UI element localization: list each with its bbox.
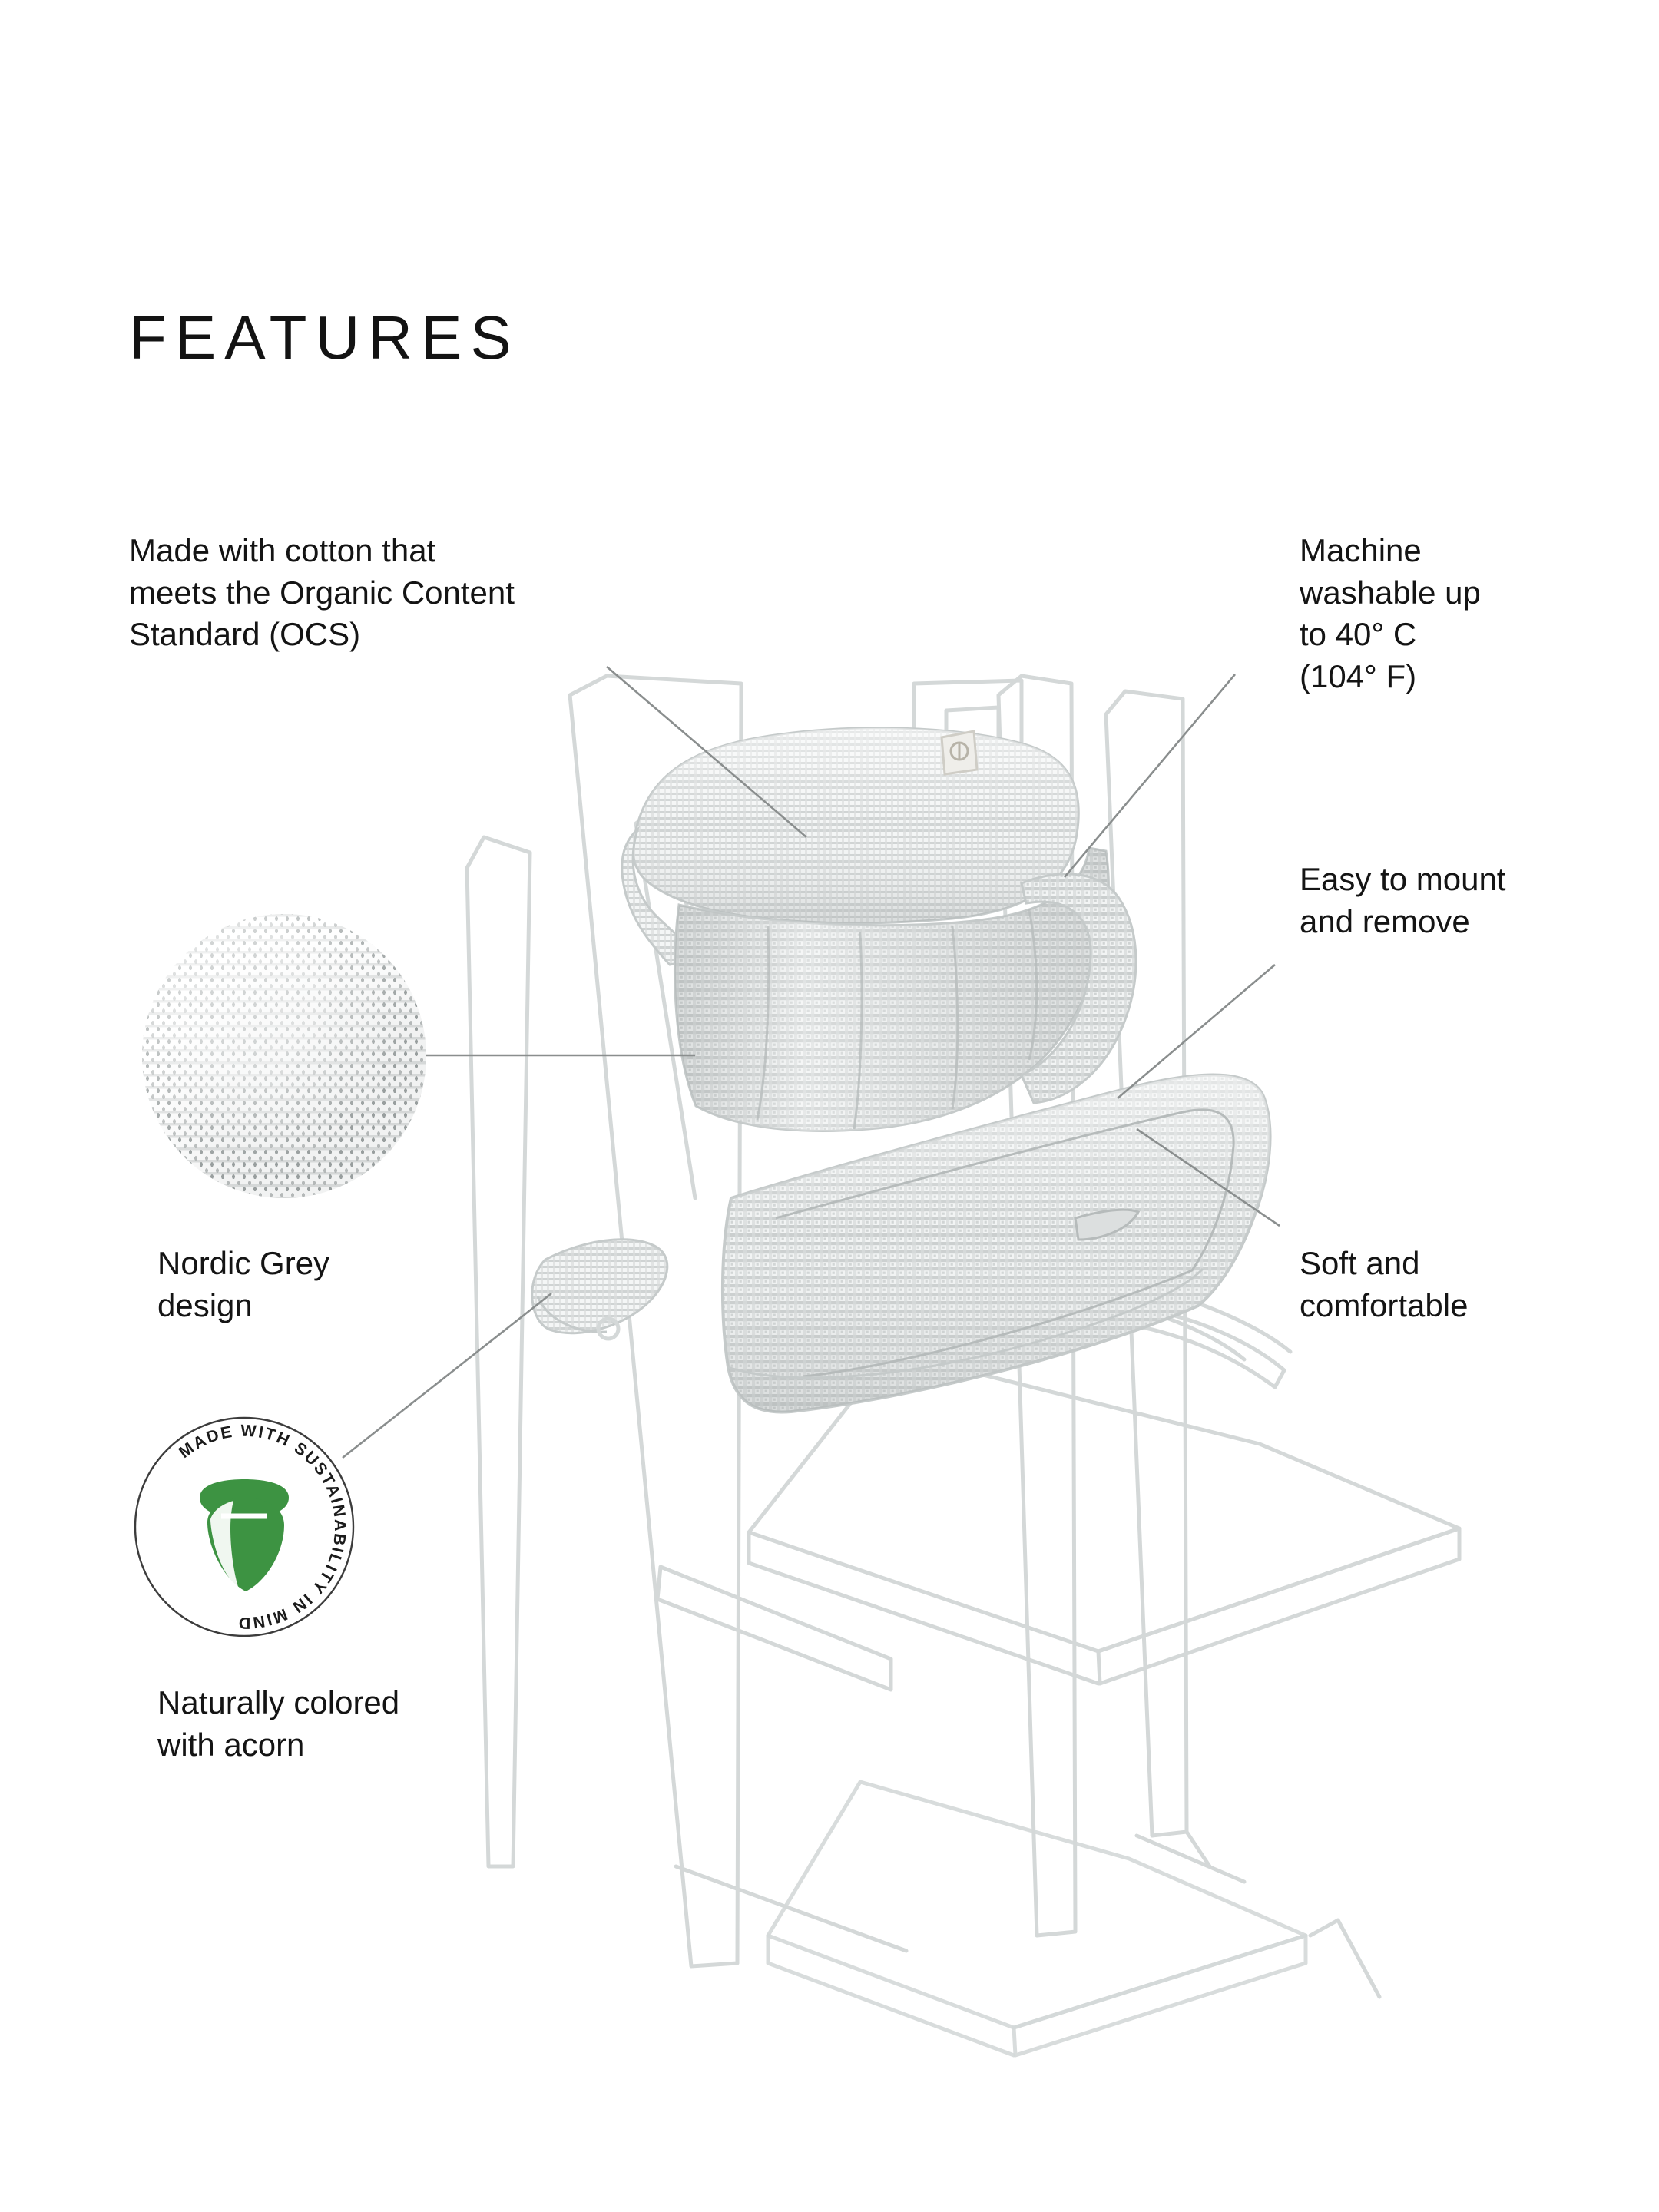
callout-organic-content-standard: Made with cotton that meets the Organic … bbox=[129, 530, 667, 656]
callout-line: and remove bbox=[1300, 901, 1607, 943]
leader-ocs bbox=[607, 667, 806, 837]
cushion-backrest bbox=[622, 728, 1079, 965]
callout-soft-and-comfortable: Soft and comfortable bbox=[1300, 1243, 1607, 1326]
callout-line: with acorn bbox=[157, 1724, 518, 1767]
leader-mount bbox=[1118, 965, 1275, 1098]
callout-line: to 40° C bbox=[1300, 614, 1607, 656]
cushion-seat-pad bbox=[723, 1075, 1270, 1412]
callout-naturally-colored-with-acorn: Naturally colored with acorn bbox=[157, 1682, 518, 1766]
fabric-sheen-overlay bbox=[142, 914, 426, 1198]
callout-line: (104° F) bbox=[1300, 656, 1607, 698]
sustainability-badge: MADE WITH SUSTAINABILITY IN MIND bbox=[129, 1412, 359, 1642]
callout-line: Machine bbox=[1300, 530, 1607, 572]
callout-line: Soft and bbox=[1300, 1243, 1607, 1285]
features-infographic: FEATURES Made with cotton that meets the… bbox=[0, 0, 1659, 2212]
cushion-back-panel bbox=[675, 848, 1136, 1131]
leader-soft bbox=[1137, 1129, 1280, 1226]
callout-easy-to-mount: Easy to mount and remove bbox=[1300, 859, 1607, 942]
callout-line: washable up bbox=[1300, 572, 1607, 614]
callout-line: Naturally colored bbox=[157, 1682, 518, 1724]
cushion-footrest-pad bbox=[532, 1240, 667, 1339]
callout-nordic-grey-design: Nordic Grey design bbox=[157, 1243, 480, 1326]
fabric-swatch-circle bbox=[142, 914, 426, 1198]
callout-line: Standard (OCS) bbox=[129, 614, 667, 656]
callout-line: meets the Organic Content bbox=[129, 572, 667, 614]
callout-line: comfortable bbox=[1300, 1285, 1607, 1327]
callout-machine-washable: Machine washable up to 40° C (104° F) bbox=[1300, 530, 1607, 697]
callout-line: Nordic Grey bbox=[157, 1243, 480, 1285]
page-title: FEATURES bbox=[129, 307, 520, 369]
callout-line: Made with cotton that bbox=[129, 530, 667, 572]
leader-wash bbox=[1065, 674, 1235, 877]
callout-line: Easy to mount bbox=[1300, 859, 1607, 901]
callout-line: design bbox=[157, 1285, 480, 1327]
